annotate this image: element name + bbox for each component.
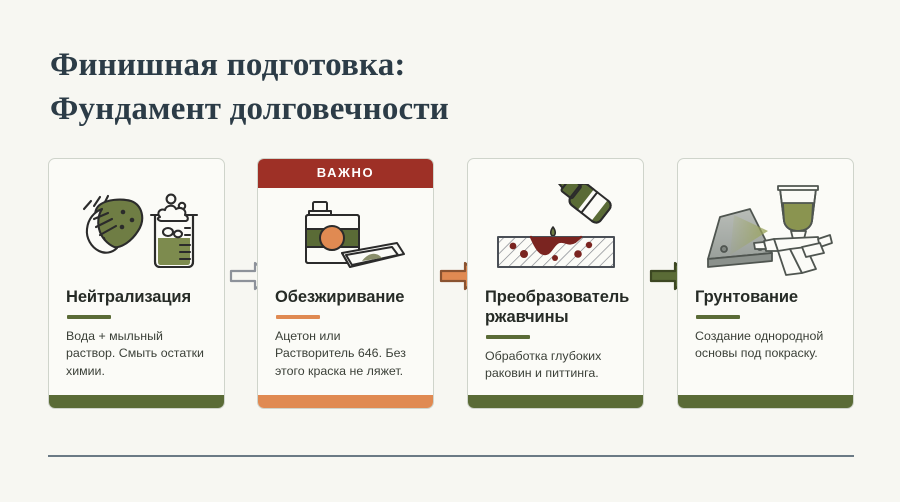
card-bottom-bar [678, 395, 853, 408]
step-title: Грунтование [695, 287, 839, 307]
step-description: Вода + мыльный раствор. Смыть остатки хи… [66, 328, 210, 381]
step-description: Создание однородной основы под покраску. [695, 328, 839, 363]
footer-divider [48, 455, 854, 457]
step-card-degreasing[interactable]: ВАЖНО Обезжиривание [257, 158, 434, 409]
step-title: Нейтрализация [66, 287, 210, 307]
card-body: Преобразователь ржавчины Обработка глубо… [485, 287, 629, 383]
card-body: Обезжиривание Ацетон или Растворитель 64… [275, 287, 419, 380]
step-card-priming[interactable]: Грунтование Создание однородной основы п… [677, 158, 854, 409]
solvent-can-cloth-icon [258, 195, 433, 279]
card-body: Грунтование Создание однородной основы п… [695, 287, 839, 363]
process-flow: Нейтрализация Вода + мыльный раствор. См… [48, 158, 854, 409]
page-title: Финишная подготовка: Фундамент долговечн… [50, 44, 449, 132]
accent-rule [486, 335, 530, 339]
accent-rule [67, 315, 111, 319]
status-badge: ВАЖНО [257, 158, 434, 188]
step-card-neutralization[interactable]: Нейтрализация Вода + мыльный раствор. См… [48, 158, 225, 409]
card-body: Нейтрализация Вода + мыльный раствор. См… [66, 287, 210, 380]
accent-rule [696, 315, 740, 319]
step-title: Преобразователь ржавчины [485, 287, 629, 327]
step-description: Ацетон или Растворитель 646. Без этого к… [275, 328, 419, 381]
step-card-rust-converter[interactable]: Преобразователь ржавчины Обработка глубо… [467, 158, 644, 409]
accent-rule [276, 315, 320, 319]
card-bottom-bar [49, 395, 224, 408]
step-description: Обработка глубоких раковин и питтинга. [485, 348, 629, 383]
dropper-bottle-rust-surface-icon [468, 181, 643, 277]
card-bottom-bar [468, 395, 643, 408]
spray-gun-panel-icon [678, 181, 853, 277]
card-bottom-bar [258, 395, 433, 408]
step-title: Обезжиривание [275, 287, 419, 307]
hand-sponge-beaker-icon [49, 181, 224, 277]
